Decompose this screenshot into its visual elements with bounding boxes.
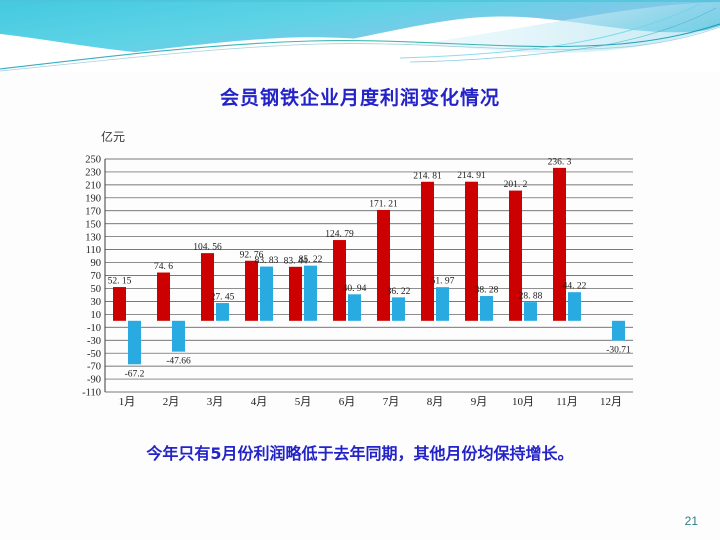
- bar-previous-year: [348, 294, 361, 320]
- bar-value-label: 83. 83: [255, 256, 279, 266]
- bar-previous-year: [392, 297, 405, 320]
- slide-canvas: 会员钢铁企业月度利润变化情况 亿元 2502302101901701501301…: [0, 0, 720, 540]
- bar-current-year: [465, 182, 478, 321]
- bar-value-label: 104. 56: [193, 243, 222, 253]
- y-axis-tick-label: 10: [91, 310, 102, 321]
- bar-value-label: 40. 94: [343, 284, 367, 294]
- y-axis-tick-label: -110: [82, 388, 101, 399]
- bar-previous-year: [436, 287, 449, 321]
- x-axis-month-label: 10月: [512, 396, 534, 408]
- bar-value-label: -47.66: [166, 357, 191, 367]
- bar-value-label: 51. 97: [431, 277, 455, 287]
- bar-current-year: [333, 240, 346, 321]
- bar-value-label: -67.2: [125, 369, 145, 379]
- bar-value-label: 201. 2: [504, 180, 528, 190]
- bar-current-year: [421, 182, 434, 321]
- bar-previous-year: [524, 302, 537, 321]
- bar-value-label: 214. 91: [457, 171, 486, 181]
- bar-current-year: [289, 267, 302, 321]
- x-axis-month-label: 5月: [295, 396, 312, 408]
- page-number: 21: [685, 514, 698, 528]
- bar-current-year: [553, 168, 566, 321]
- bar-previous-year: [260, 267, 273, 321]
- x-axis-month-label: 7月: [383, 396, 400, 408]
- y-axis-tick-label: -50: [87, 349, 101, 360]
- x-axis-month-label: 9月: [471, 396, 488, 408]
- bar-current-year: [245, 261, 258, 321]
- bar-value-label: 74. 6: [154, 262, 173, 272]
- bar-current-year: [377, 210, 390, 321]
- y-axis-tick-label: 190: [85, 193, 101, 204]
- y-axis-tick-label: 150: [85, 219, 101, 230]
- bar-previous-year: [216, 303, 229, 321]
- bar-previous-year: [128, 321, 141, 364]
- bar-value-label: 28. 88: [519, 292, 543, 302]
- bar-value-label: 85. 22: [299, 255, 323, 265]
- bar-value-label: -30.71: [606, 346, 631, 356]
- x-axis-month-label: 3月: [207, 396, 224, 408]
- bar-value-label: 27. 45: [211, 293, 235, 303]
- x-axis-month-label: 11月: [556, 396, 578, 408]
- x-axis-month-label: 2月: [163, 396, 180, 408]
- y-axis-tick-label: -30: [87, 336, 101, 347]
- y-axis-tick-label: 90: [91, 258, 102, 269]
- x-axis-month-label: 6月: [339, 396, 356, 408]
- bar-current-year: [157, 273, 170, 321]
- bar-current-year: [113, 287, 126, 321]
- y-axis-tick-label: 130: [85, 232, 101, 243]
- bar-value-label: 171. 21: [369, 199, 398, 209]
- y-axis-tick-label: -10: [87, 323, 101, 334]
- y-axis-tick-label: 210: [85, 180, 101, 191]
- x-axis-month-label: 12月: [600, 396, 622, 408]
- y-axis-tick-label: 70: [91, 271, 102, 282]
- y-axis-tick-label: 230: [85, 168, 101, 179]
- y-axis-tick-label: 30: [91, 297, 102, 308]
- y-axis-tick-label: -90: [87, 375, 101, 386]
- bar-value-label: 36. 22: [387, 287, 411, 297]
- y-axis-tick-label: 170: [85, 206, 101, 217]
- y-axis-tick-label: 110: [86, 245, 101, 256]
- bar-value-label: 52. 15: [108, 277, 132, 287]
- bar-value-label: 124. 79: [325, 230, 354, 240]
- bar-value-label: 44. 22: [563, 282, 587, 292]
- bar-previous-year: [612, 321, 625, 341]
- summary-caption: 今年只有5月份利润略低于去年同期，其他月份均保持增长。: [0, 440, 720, 464]
- bar-value-label: 236. 3: [548, 157, 572, 167]
- y-axis-tick-label: 250: [85, 155, 101, 166]
- bar-value-label: 214. 81: [413, 171, 442, 181]
- bar-previous-year: [568, 292, 581, 321]
- y-axis-tick-label: -70: [87, 362, 101, 373]
- bar-previous-year: [480, 296, 493, 321]
- bar-previous-year: [172, 321, 185, 352]
- bar-previous-year: [304, 266, 317, 321]
- y-axis-tick-label: 50: [91, 284, 102, 295]
- x-axis-month-label: 8月: [427, 396, 444, 408]
- x-axis-month-label: 4月: [251, 396, 268, 408]
- bar-current-year: [201, 253, 214, 321]
- bar-value-label: 38. 28: [475, 286, 499, 296]
- x-axis-month-label: 1月: [119, 396, 136, 408]
